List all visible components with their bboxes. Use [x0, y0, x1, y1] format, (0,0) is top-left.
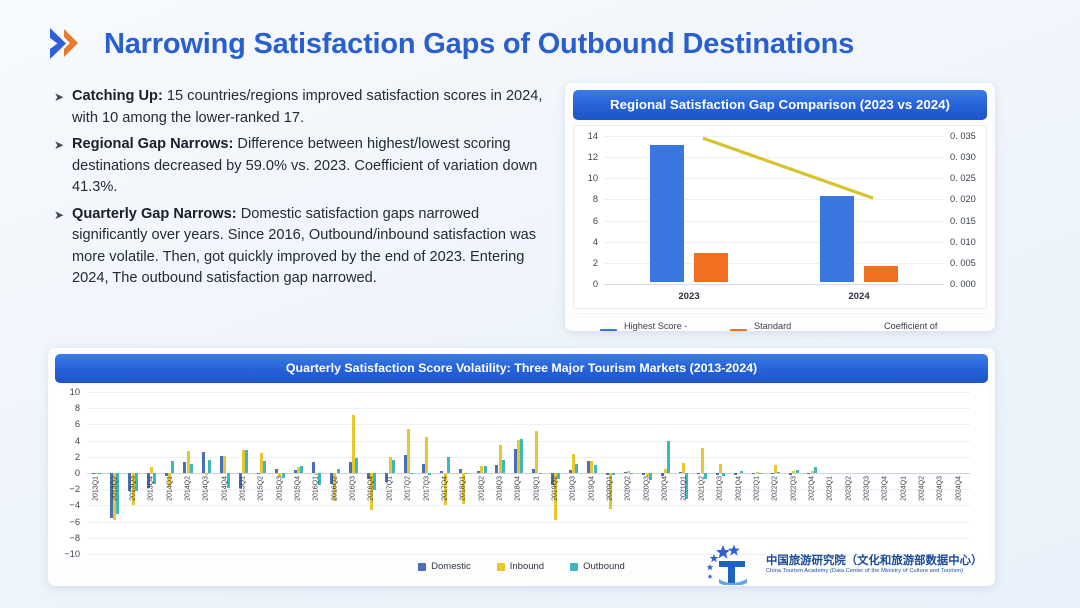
bar-inbound [682, 463, 685, 473]
gridline [87, 392, 970, 393]
quarterly-volatility-plot: 1086420−2−4−6−8−102013Q12013Q22013Q32013… [55, 386, 988, 558]
y-axis-tick: 0 [55, 468, 80, 478]
bar-outbound [796, 470, 799, 473]
gridline [87, 408, 970, 409]
x-axis-tick: 2013Q4 [148, 476, 155, 501]
x-axis-tick: 2017Q4 [441, 476, 448, 501]
x-axis-tick: 2015Q4 [295, 476, 302, 501]
logo-text-block: 中国旅游研究院（文化和旅游部数据中心） China Tourism Academ… [766, 553, 982, 575]
bar-outbound [759, 473, 762, 474]
legend-swatch-icon [497, 563, 505, 571]
x-axis-tick: 2019Q2 [552, 476, 559, 501]
arrow-bullet-icon: ➤ [54, 134, 72, 155]
bar-outbound [465, 473, 468, 474]
page-title: Narrowing Satisfaction Gaps of Outbound … [104, 28, 854, 61]
legend-label: Outbound [583, 561, 625, 572]
bar-domestic [312, 462, 315, 473]
bar-domestic [771, 473, 774, 474]
bar-outbound [447, 457, 450, 473]
x-axis-tick: 2023Q1 [827, 476, 834, 501]
x-axis-tick: 2020Q4 [662, 476, 669, 501]
bar-outbound [300, 466, 303, 473]
bar-inbound [223, 456, 226, 473]
y-axis-tick: −4 [55, 500, 80, 510]
x-axis-tick: 2021Q1 [680, 476, 687, 501]
y-axis-tick: 4 [55, 436, 80, 446]
x-axis-tick: 2021Q3 [717, 476, 724, 501]
gridline [87, 473, 970, 474]
bar-domestic [257, 473, 260, 474]
bar-outbound [575, 464, 578, 473]
y-axis-tick: 6 [55, 419, 80, 429]
bar-outbound [98, 473, 101, 474]
y-axis-tick: 2 [55, 452, 80, 462]
x-axis-tick: 2018Q3 [496, 476, 503, 501]
x-axis-tick: 2023Q4 [882, 476, 889, 501]
x-axis-tick: 2013Q2 [111, 476, 118, 501]
double-chevron-icon [48, 24, 90, 64]
legend-label: Coefficient of Variation [884, 321, 960, 331]
bullet-lead: Catching Up: [72, 88, 163, 104]
legend-swatch-icon [730, 329, 747, 332]
x-axis-tick: 2014Q1 [166, 476, 173, 501]
list-item: ➤ Regional Gap Narrows: Difference betwe… [54, 134, 552, 199]
coefficient-of-variation-line [574, 126, 986, 310]
legend-label: Domestic [431, 561, 471, 572]
bar-inbound [425, 437, 428, 473]
bar-outbound [428, 473, 431, 475]
x-axis-tick: 2024Q3 [937, 476, 944, 501]
x-axis-tick: 2013Q1 [93, 476, 100, 501]
x-axis-tick: 2014Q3 [203, 476, 210, 501]
legend-swatch-icon [418, 563, 426, 571]
x-axis-tick: 2024Q1 [900, 476, 907, 501]
x-axis-tick: 2016Q2 [331, 476, 338, 501]
x-axis-tick: 2024Q4 [955, 476, 962, 501]
bullet-lead: Regional Gap Narrows: [72, 136, 233, 152]
x-axis-tick: 2021Q4 [735, 476, 742, 501]
x-axis-tick: 2024Q2 [919, 476, 926, 501]
x-axis-tick: 2017Q1 [386, 476, 393, 501]
title-row: Narrowing Satisfaction Gaps of Outbound … [48, 24, 854, 64]
gridline [87, 424, 970, 425]
gridline [87, 505, 970, 506]
bar-outbound [777, 472, 780, 473]
x-axis-tick: 2020Q2 [625, 476, 632, 501]
bar-domestic [789, 473, 792, 475]
ta-star-logo-icon [705, 543, 757, 585]
legend-item[interactable]: Standard Deviation [730, 321, 830, 331]
list-item: ➤ Quarterly Gap Narrows: Domestic satisf… [54, 204, 552, 290]
x-axis-tick: 2016Q1 [313, 476, 320, 501]
x-axis-tick: 2015Q3 [276, 476, 283, 501]
bar-outbound [392, 460, 395, 473]
x-axis-tick: 2022Q3 [790, 476, 797, 501]
bar-outbound [355, 458, 358, 473]
x-axis-tick: 2015Q2 [258, 476, 265, 501]
x-axis-tick: 2013Q3 [129, 476, 136, 501]
legend-swatch-icon [600, 329, 617, 332]
legend-item[interactable]: Inbound [497, 561, 544, 572]
regional-gap-legend: Highest Score - Lowest ScoreStandard Dev… [573, 313, 987, 331]
y-axis-tick: −10 [55, 549, 80, 559]
x-axis-tick: 2018Q2 [478, 476, 485, 501]
bar-outbound [667, 441, 670, 473]
quarterly-volatility-title: Quarterly Satisfaction Score Volatility:… [55, 354, 988, 383]
organization-logo: 中国旅游研究院（文化和旅游部数据中心） China Tourism Academ… [705, 543, 982, 585]
bar-outbound [208, 460, 211, 473]
x-axis-tick: 2022Q2 [772, 476, 779, 501]
bar-inbound [719, 464, 722, 473]
bar-outbound [594, 465, 597, 473]
bar-outbound [171, 461, 174, 473]
regional-gap-card: Regional Satisfaction Gap Comparison (20… [565, 83, 995, 331]
bar-outbound [520, 439, 523, 473]
y-axis-tick: 10 [55, 387, 80, 397]
logo-text-en: China Tourism Academy (Data Center of th… [766, 567, 982, 575]
gridline [87, 489, 970, 490]
logo-text-cn: 中国旅游研究院（文化和旅游部数据中心） [766, 553, 982, 567]
x-axis-tick: 2014Q2 [184, 476, 191, 501]
bullet-text: Quarterly Gap Narrows: Domestic satisfac… [72, 204, 552, 290]
legend-item[interactable]: Coefficient of Variation [860, 321, 960, 331]
x-axis-tick: 2016Q4 [368, 476, 375, 501]
legend-item[interactable]: Outbound [570, 561, 625, 572]
bar-inbound [737, 473, 740, 474]
arrow-bullet-icon: ➤ [54, 86, 72, 107]
legend-item[interactable]: Highest Score - Lowest Score [600, 321, 700, 331]
bar-inbound [701, 448, 704, 473]
x-axis-tick: 2014Q4 [221, 476, 228, 501]
gridline [87, 522, 970, 523]
x-axis-tick: 2022Q4 [808, 476, 815, 501]
bar-outbound [630, 473, 633, 474]
x-axis-tick: 2017Q2 [405, 476, 412, 501]
gridline [87, 441, 970, 442]
bar-domestic [202, 452, 205, 473]
bar-outbound [539, 473, 542, 474]
x-axis-tick: 2023Q2 [845, 476, 852, 501]
y-axis-tick: −8 [55, 533, 80, 543]
x-axis-tick: 2022Q1 [753, 476, 760, 501]
x-axis-tick: 2021Q2 [698, 476, 705, 501]
x-axis-tick: 2020Q1 [607, 476, 614, 501]
bar-domestic [807, 473, 810, 474]
bullet-text: Catching Up: 15 countries/regions improv… [72, 86, 552, 129]
bar-outbound [245, 450, 248, 473]
gridline [87, 538, 970, 539]
x-axis-tick: 2019Q3 [570, 476, 577, 501]
bar-inbound [407, 429, 410, 473]
y-axis-tick: 8 [55, 403, 80, 413]
bar-outbound [502, 460, 505, 473]
bar-inbound [205, 473, 208, 475]
x-axis-tick: 2018Q1 [460, 476, 467, 501]
x-axis-tick: 2019Q1 [533, 476, 540, 501]
arrow-bullet-icon: ➤ [54, 204, 72, 225]
list-item: ➤ Catching Up: 15 countries/regions impr… [54, 86, 552, 129]
bar-outbound [410, 473, 413, 474]
legend-label: Highest Score - Lowest Score [624, 321, 700, 331]
legend-label: Inbound [510, 561, 544, 572]
legend-item[interactable]: Domestic [418, 561, 471, 572]
bar-outbound [740, 471, 743, 473]
legend-label: Standard Deviation [754, 321, 830, 331]
bar-outbound [337, 469, 340, 473]
bar-inbound [535, 431, 538, 473]
bullet-lead: Quarterly Gap Narrows: [72, 206, 237, 222]
y-axis-tick: −2 [55, 484, 80, 494]
y-axis-tick: −6 [55, 517, 80, 527]
bar-outbound [190, 464, 193, 473]
legend-swatch-icon [570, 563, 578, 571]
x-axis-tick: 2023Q3 [864, 476, 871, 501]
bar-outbound [263, 461, 266, 473]
bullet-text: Regional Gap Narrows: Difference between… [72, 134, 552, 199]
bar-outbound [484, 466, 487, 473]
slide-root: Narrowing Satisfaction Gaps of Outbound … [0, 0, 1080, 608]
legend-swatch-icon [860, 331, 877, 332]
x-axis-tick: 2018Q4 [515, 476, 522, 501]
regional-gap-title: Regional Satisfaction Gap Comparison (20… [573, 90, 987, 120]
regional-gap-plot: 141210864200. 0350. 0300. 0250. 0200. 01… [573, 125, 987, 309]
bar-outbound [612, 473, 615, 475]
x-axis-tick: 2016Q3 [350, 476, 357, 501]
x-axis-tick: 2020Q3 [643, 476, 650, 501]
bullet-list: ➤ Catching Up: 15 countries/regions impr… [54, 86, 552, 295]
bar-outbound [814, 467, 817, 473]
x-axis-tick: 2017Q3 [423, 476, 430, 501]
x-axis-tick: 2019Q4 [588, 476, 595, 501]
x-axis-tick: 2015Q1 [240, 476, 247, 501]
